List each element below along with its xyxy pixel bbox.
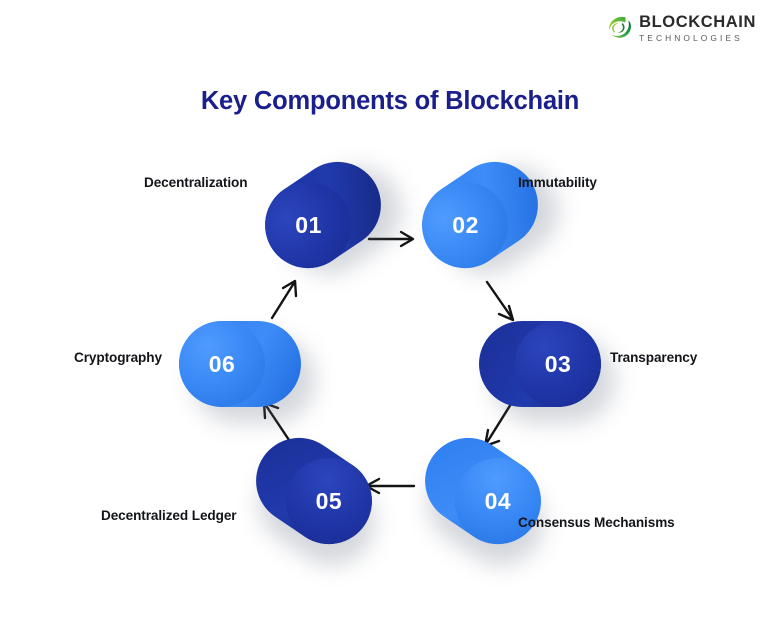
node-06-label: Cryptography: [74, 350, 162, 365]
capsule-05-number: 05: [316, 488, 343, 515]
node-01[interactable]: 01: [262, 172, 384, 258]
capsule-06-face: 06: [179, 321, 265, 407]
capsule-06-number: 06: [209, 351, 236, 378]
blockchain-components-diagram: 01 Decentralization 02 Immutability 03 T…: [0, 0, 780, 627]
capsule-03-number: 03: [545, 351, 572, 378]
arrow-06-to-01: [272, 281, 296, 318]
node-01-label: Decentralization: [144, 175, 247, 190]
arrow-02-to-03: [487, 282, 513, 320]
capsule-02: 02: [405, 145, 554, 285]
node-03[interactable]: 03: [479, 321, 601, 407]
capsule-02-number: 02: [452, 212, 479, 239]
capsule-01-number: 01: [295, 212, 322, 239]
capsule-05: 05: [239, 421, 388, 561]
node-02-label: Immutability: [518, 175, 597, 190]
node-04-label: Consensus Mechanisms: [518, 515, 675, 530]
capsule-04: 04: [408, 421, 557, 561]
capsule-04-number: 04: [485, 488, 512, 515]
capsule-03: 03: [479, 321, 601, 407]
node-06[interactable]: 06: [179, 321, 301, 407]
capsule-03-face: 03: [515, 321, 601, 407]
capsule-06: 06: [179, 321, 301, 407]
capsule-01: 01: [248, 145, 397, 285]
arrow-03-to-04: [485, 404, 511, 446]
node-03-label: Transparency: [610, 350, 697, 365]
node-05-label: Decentralized Ledger: [101, 508, 237, 523]
node-05[interactable]: 05: [253, 448, 375, 534]
arrow-layer: [0, 0, 780, 627]
